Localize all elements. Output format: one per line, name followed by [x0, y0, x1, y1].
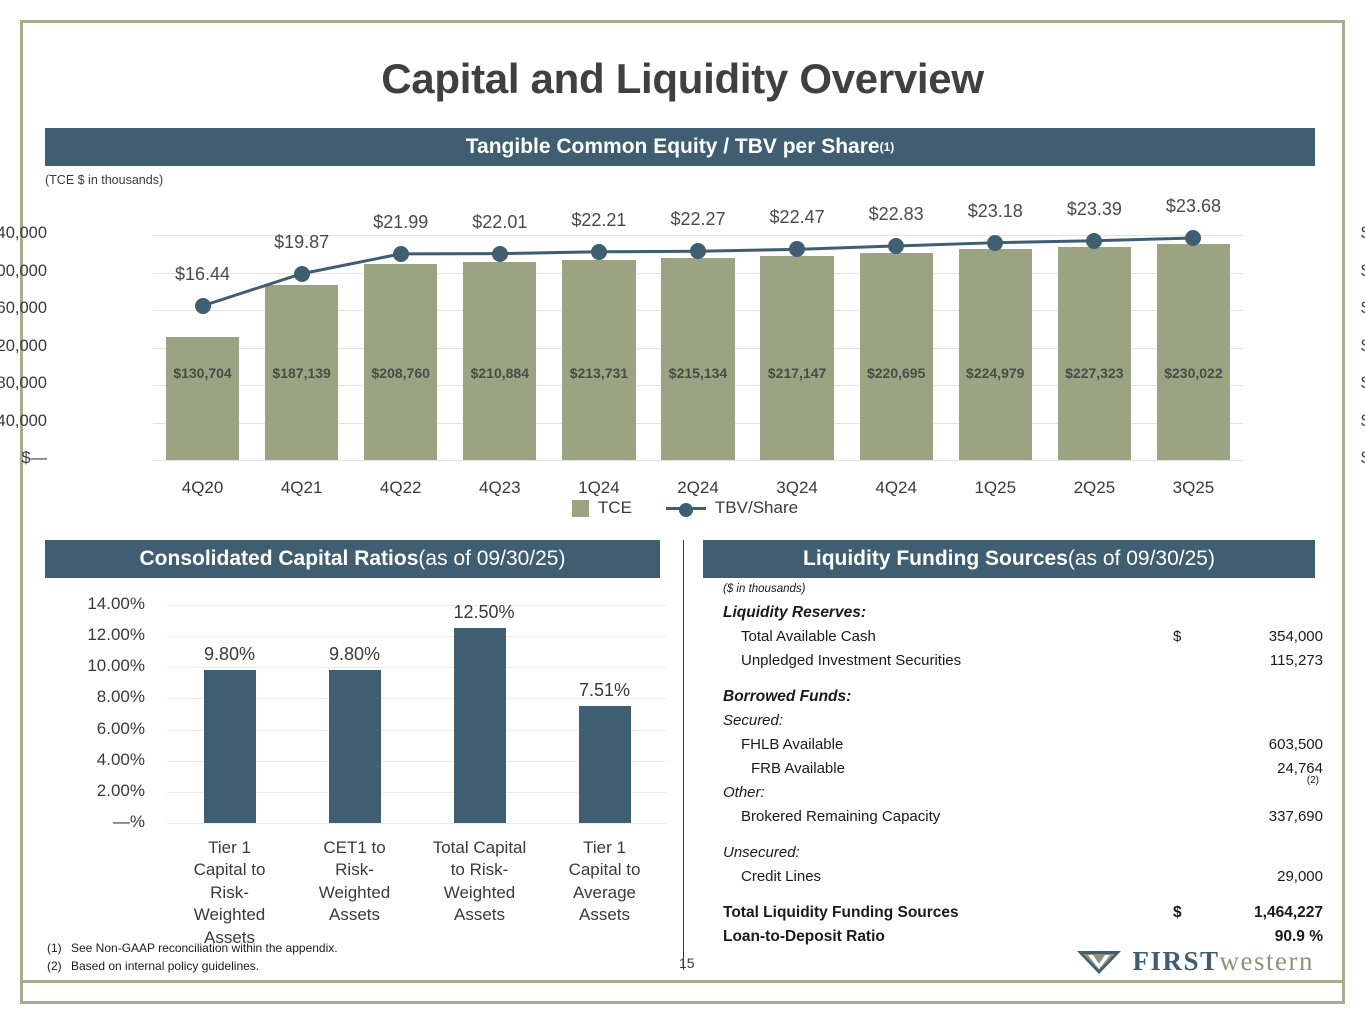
brand-wordmark: FIRSTwestern: [1133, 946, 1315, 977]
tbv-share-marker: [195, 298, 211, 314]
liquidity-row-spacer: [723, 676, 1323, 688]
liquidity-row-spacer: [723, 832, 1323, 844]
liquidity-table-row: FRB Available24,764: [723, 760, 1323, 784]
tce-x-axis-label: 4Q24: [875, 478, 917, 498]
tbv-share-value-label: $22.83: [869, 204, 924, 225]
liquidity-table-row: Secured:: [723, 712, 1323, 736]
liquidity-row-value: 1,464,227: [1213, 904, 1323, 922]
liquidity-units-note: ($ in thousands): [723, 583, 1323, 595]
liquidity-rows-container: Liquidity Reserves:Total Available Cash$…: [723, 604, 1323, 952]
liquidity-row-value: 90.9 %: [1213, 928, 1323, 946]
liquidity-table-row: Liquidity Reserves:: [723, 604, 1323, 628]
tbv-share-value-label: $22.21: [571, 210, 626, 231]
capital-ratio-x-label: Total Capitalto Risk-WeightedAssets: [420, 837, 540, 927]
liquidity-panel-header-date: (as of 09/30/25): [1068, 547, 1215, 571]
brand-word-first: FIRST: [1133, 946, 1220, 976]
footnote-1-text: See Non-GAAP reconciliation within the a…: [71, 941, 338, 955]
footer-divider: [23, 980, 1342, 983]
tce-gridline: [153, 460, 1243, 461]
tbv-share-value-label: $23.39: [1067, 199, 1122, 220]
tce-y-axis-tick: $240,000: [0, 224, 47, 243]
tbv-y2-axis-tick: $16: [1361, 299, 1365, 318]
tbv-share-value-label: $23.18: [968, 201, 1023, 222]
ratios-y-axis-tick: 12.00%: [87, 625, 145, 645]
tbv-share-line: [153, 235, 1243, 460]
liquidity-table-row: Brokered Remaining Capacity337,690: [723, 808, 1323, 832]
ratios-panel-header-date: (as of 09/30/25): [418, 547, 565, 571]
capital-ratio-value-label: 9.80%: [329, 644, 381, 665]
tbv-y2-axis-tick: $24: [1361, 224, 1365, 243]
footnotes: (1)See Non-GAAP reconciliation within th…: [47, 939, 338, 975]
liquidity-row-label: Borrowed Funds:: [723, 688, 1173, 706]
liquidity-row-label: Total Available Cash: [723, 628, 1173, 645]
liquidity-row-value: 354,000: [1213, 628, 1323, 645]
ratios-y-axis-tick: —%: [113, 812, 145, 832]
w-triangle-logo-icon: [1077, 949, 1121, 975]
tbv-y2-axis-tick: $8: [1361, 374, 1365, 393]
liquidity-row-label: FHLB Available: [723, 736, 1173, 753]
tce-y-axis-tick: $200,000: [0, 262, 47, 281]
capital-ratio-value-label: 9.80%: [204, 644, 256, 665]
tce-panel-header-footnote-ref: (1): [880, 140, 895, 154]
tbv-share-value-label: $22.01: [472, 212, 527, 233]
tbv-share-marker: [789, 241, 805, 257]
ratios-y-axis-tick: 8.00%: [97, 687, 145, 707]
liquidity-row-currency: $: [1173, 628, 1213, 645]
tbv-line-swatch-icon: [666, 500, 706, 516]
tce-x-axis-label: 4Q21: [281, 478, 323, 498]
liquidity-row-label: Unsecured:: [723, 844, 1173, 861]
liquidity-table-row: Other:(2): [723, 784, 1323, 808]
capital-ratio-x-label: Tier 1Capital toRisk-WeightedAssets: [170, 837, 290, 949]
liquidity-row-label: Credit Lines: [723, 868, 1173, 885]
liquidity-table-row: FHLB Available603,500: [723, 736, 1323, 760]
tbv-share-value-label: $21.99: [373, 212, 428, 233]
tce-swatch-icon: [572, 500, 589, 517]
liquidity-row-label: Other:: [723, 784, 1173, 801]
tce-x-axis-label: 3Q24: [776, 478, 818, 498]
capital-ratio-bar: 12.50%: [454, 628, 506, 823]
brand-logo: FIRSTwestern: [1077, 946, 1315, 977]
tce-y-axis-tick: $—: [21, 449, 47, 468]
capital-ratio-bar: 9.80%: [329, 670, 381, 823]
tbv-share-marker: [294, 266, 310, 282]
footnote-2-num: (2): [47, 957, 71, 975]
tbv-share-marker: [888, 238, 904, 254]
page-title: Capital and Liquidity Overview: [23, 55, 1342, 103]
liquidity-row-footnote-ref: (2): [1307, 775, 1319, 786]
tbv-share-value-label: $23.68: [1166, 196, 1221, 217]
liquidity-table-row: Unpledged Investment Securities115,273: [723, 652, 1323, 676]
capital-ratio-x-label: Tier 1Capital toAverageAssets: [545, 837, 665, 927]
ratios-y-axis-tick: 4.00%: [97, 750, 145, 770]
tbv-share-value-label: $22.47: [770, 207, 825, 228]
capital-ratios-chart: —%2.00%4.00%6.00%8.00%10.00%12.00%14.00%…: [45, 583, 685, 973]
ratios-gridline: [167, 605, 667, 606]
capital-ratios-plot-area: —%2.00%4.00%6.00%8.00%10.00%12.00%14.00%…: [167, 605, 667, 823]
liquidity-table-row: Credit Lines29,000: [723, 868, 1323, 892]
liquidity-table-row: Total Available Cash$354,000: [723, 628, 1323, 652]
liquidity-row-label: FRB Available: [723, 760, 1173, 777]
capital-ratio-bar: 9.80%: [204, 670, 256, 823]
liquidity-funding-table: ($ in thousands) Liquidity Reserves:Tota…: [723, 583, 1323, 963]
capital-ratio-value-label: 12.50%: [454, 602, 506, 623]
tce-x-axis-label: 1Q24: [578, 478, 620, 498]
ratios-gridline: [167, 636, 667, 637]
tbv-share-marker: [1086, 233, 1102, 249]
tbv-y2-axis-tick: $20: [1361, 262, 1365, 281]
capital-ratio-x-label: CET1 toRisk-WeightedAssets: [295, 837, 415, 927]
tbv-y2-axis-tick: $12: [1361, 337, 1365, 356]
tbv-share-marker: [393, 246, 409, 262]
tbv-y2-axis-tick: $—: [1361, 449, 1365, 468]
ratios-panel-header: Consolidated Capital Ratios (as of 09/30…: [45, 540, 660, 578]
tbv-share-marker: [987, 235, 1003, 251]
tce-x-axis-label: 1Q25: [974, 478, 1016, 498]
tce-y-axis-tick: $40,000: [0, 412, 47, 431]
tce-x-axis-label: 2Q25: [1074, 478, 1116, 498]
footnote-1-num: (1): [47, 939, 71, 957]
tbv-share-value-label: $19.87: [274, 232, 329, 253]
tce-panel-header-label: Tangible Common Equity / TBV per Share: [466, 135, 880, 159]
liquidity-row-label: Loan-to-Deposit Ratio: [723, 928, 1173, 946]
legend-item-tbv-share: TBV/Share: [666, 498, 798, 518]
tce-y-axis-tick: $80,000: [0, 374, 47, 393]
tce-y-axis-tick: $160,000: [0, 299, 47, 318]
legend-item-tce: TCE: [572, 498, 632, 518]
liquidity-row-label: Liquidity Reserves:: [723, 604, 1173, 622]
tbv-share-marker: [492, 246, 508, 262]
tce-x-axis-label: 3Q25: [1173, 478, 1215, 498]
tbv-share-marker: [591, 244, 607, 260]
footnote-2: (2)Based on internal policy guidelines.: [47, 957, 338, 975]
liquidity-row-value: 603,500: [1213, 736, 1323, 753]
liquidity-table-row: Unsecured:: [723, 844, 1323, 868]
tce-x-axis-label: 4Q23: [479, 478, 521, 498]
liquidity-table-row: Total Liquidity Funding Sources$1,464,22…: [723, 904, 1323, 928]
liquidity-row-label: Secured:: [723, 712, 1173, 729]
footnote-2-text: Based on internal policy guidelines.: [71, 959, 259, 973]
liquidity-panel-header: Liquidity Funding Sources (as of 09/30/2…: [703, 540, 1315, 578]
tbv-share-value-label: $16.44: [175, 264, 230, 285]
tbv-share-marker: [690, 243, 706, 259]
ratios-y-axis-tick: 2.00%: [97, 781, 145, 801]
tce-x-axis-label: 2Q24: [677, 478, 719, 498]
tbv-share-value-label: $22.27: [670, 209, 725, 230]
ratios-panel-header-label: Consolidated Capital Ratios: [140, 547, 419, 571]
liquidity-row-value: 115,273: [1213, 652, 1323, 669]
tce-tbv-chart: (TCE $ in thousands) $—$—$40,000$4$80,00…: [45, 173, 1325, 523]
liquidity-row-value: 337,690: [1213, 808, 1323, 825]
liquidity-row-label: Brokered Remaining Capacity: [723, 808, 1173, 825]
legend-label-tce: TCE: [598, 498, 632, 518]
tce-x-axis-label: 4Q20: [182, 478, 224, 498]
capital-ratio-bar: 7.51%: [579, 706, 631, 823]
tbv-share-marker: [1185, 230, 1201, 246]
capital-ratio-value-label: 7.51%: [579, 680, 631, 701]
slide: Capital and Liquidity Overview Tangible …: [20, 20, 1345, 1004]
ratios-y-axis-tick: 6.00%: [97, 719, 145, 739]
ratios-gridline: [167, 667, 667, 668]
liquidity-row-currency: $: [1173, 904, 1213, 922]
tce-y-axis-tick: $120,000: [0, 337, 47, 356]
ratios-gridline: [167, 823, 667, 824]
liquidity-row-label: Total Liquidity Funding Sources: [723, 904, 1173, 922]
ratios-y-axis-tick: 10.00%: [87, 656, 145, 676]
legend-label-tbv-share: TBV/Share: [715, 498, 798, 518]
tce-chart-legend: TCE TBV/Share: [45, 498, 1325, 518]
tce-panel-header: Tangible Common Equity / TBV per Share(1…: [45, 128, 1315, 166]
footnote-1: (1)See Non-GAAP reconciliation within th…: [47, 939, 338, 957]
liquidity-table-row: Borrowed Funds:: [723, 688, 1323, 712]
tce-units-note: (TCE $ in thousands): [45, 173, 163, 187]
tbv-y2-axis-tick: $4: [1361, 412, 1365, 431]
brand-word-western: western: [1220, 946, 1314, 976]
page-number: 15: [679, 955, 695, 971]
liquidity-row-label: Unpledged Investment Securities: [723, 652, 1173, 669]
liquidity-panel-header-label: Liquidity Funding Sources: [803, 547, 1068, 571]
tce-plot-area: $—$—$40,000$4$80,000$8$120,000$12$160,00…: [153, 235, 1243, 460]
tce-x-axis-label: 4Q22: [380, 478, 422, 498]
liquidity-row-value: 29,000: [1213, 868, 1323, 885]
ratios-y-axis-tick: 14.00%: [87, 594, 145, 614]
liquidity-row-spacer: [723, 892, 1323, 904]
